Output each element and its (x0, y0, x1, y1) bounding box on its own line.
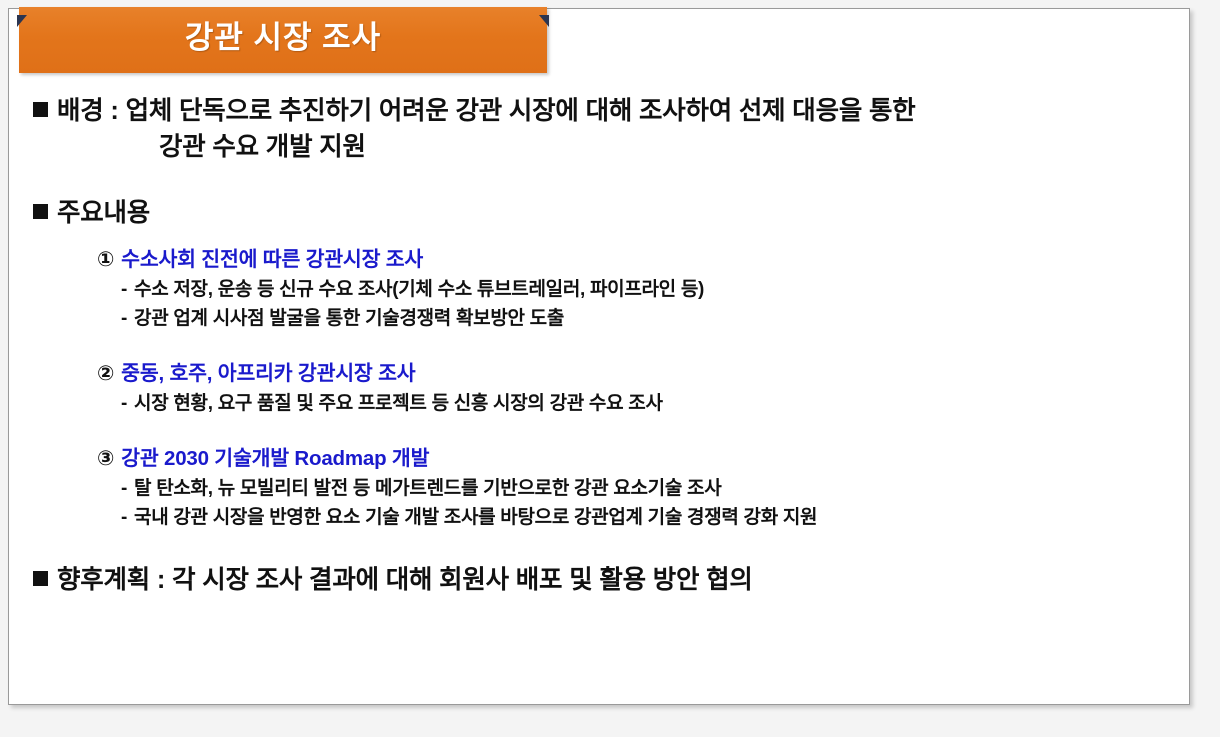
spacer (9, 165, 1191, 195)
slide-body: 배경 : 업체 단독으로 추진하기 어려운 강관 시장에 대해 조사하여 선제 … (9, 93, 1191, 598)
section-background: 배경 : 업체 단독으로 추진하기 어려운 강관 시장에 대해 조사하여 선제 … (9, 93, 1191, 165)
content-item-1-bullet-1: -수소 저장, 운송 등 신규 수요 조사(기체 수소 튜브트레일러, 파이프라… (9, 275, 1191, 304)
content-item-1-label: ①수소사회 진전에 따른 강관시장 조사 (9, 245, 1191, 275)
item-2-text: 중동, 호주, 아프리카 강관시장 조사 (121, 362, 415, 385)
section-main-content-heading-text: 주요내용 (57, 199, 150, 227)
spacer (9, 418, 1191, 444)
content-item-2: ②중동, 호주, 아프리카 강관시장 조사 -시장 현황, 요구 품질 및 주요… (9, 359, 1191, 418)
section-background-heading-text: 배경 : 업체 단독으로 추진하기 어려운 강관 시장에 대해 조사하여 선제 … (57, 97, 916, 125)
item-number-1: ① (97, 248, 114, 271)
content-item-1-bullet-2: -강관 업계 시사점 발굴을 통한 기술경쟁력 확보방안 도출 (9, 304, 1191, 333)
item-1-text: 수소사회 진전에 따른 강관시장 조사 (121, 248, 423, 271)
section-future-plan-heading: 향후계획 : 각 시장 조사 결과에 대해 회원사 배포 및 활용 방안 협의 (9, 562, 1191, 598)
section-main-content: 주요내용 ①수소사회 진전에 따른 강관시장 조사 -수소 저장, 운송 등 신… (9, 195, 1191, 532)
content-item-3-bullet-2: -국내 강관 시장을 반영한 요소 기술 개발 조사를 바탕으로 강관업계 기술… (9, 503, 1191, 532)
content-item-1-bullet-2-text: 강관 업계 시사점 발굴을 통한 기술경쟁력 확보방안 도출 (134, 308, 564, 329)
square-bullet-icon (33, 571, 48, 586)
dash-bullet-icon: - (121, 507, 127, 528)
dash-bullet-icon: - (121, 308, 127, 329)
square-bullet-icon (33, 102, 48, 117)
spacer (9, 231, 1191, 245)
content-item-1: ①수소사회 진전에 따른 강관시장 조사 -수소 저장, 운송 등 신규 수요 … (9, 245, 1191, 333)
content-item-3: ③강관 2030 기술개발 Roadmap 개발 -탈 탄소화, 뉴 모빌리티 … (9, 444, 1191, 532)
content-item-2-bullet-1-text: 시장 현황, 요구 품질 및 주요 프로젝트 등 신흥 시장의 강관 수요 조사 (134, 393, 663, 414)
section-future-plan: 향후계획 : 각 시장 조사 결과에 대해 회원사 배포 및 활용 방안 협의 (9, 562, 1191, 598)
content-item-1-bullet-1-text: 수소 저장, 운송 등 신규 수요 조사(기체 수소 튜브트레일러, 파이프라인… (134, 279, 704, 300)
spacer (9, 532, 1191, 562)
content-item-2-bullet-1: -시장 현황, 요구 품질 및 주요 프로젝트 등 신흥 시장의 강관 수요 조… (9, 389, 1191, 418)
section-background-continuation: 강관 수요 개발 지원 (9, 129, 1191, 165)
section-background-heading: 배경 : 업체 단독으로 추진하기 어려운 강관 시장에 대해 조사하여 선제 … (9, 93, 1191, 129)
item-number-3: ③ (97, 447, 114, 470)
content-item-3-bullet-2-text: 국내 강관 시장을 반영한 요소 기술 개발 조사를 바탕으로 강관업계 기술 … (134, 507, 817, 528)
dash-bullet-icon: - (121, 393, 127, 414)
dash-bullet-icon: - (121, 478, 127, 499)
item-3-text: 강관 2030 기술개발 Roadmap 개발 (121, 447, 429, 470)
content-item-2-label: ②중동, 호주, 아프리카 강관시장 조사 (9, 359, 1191, 389)
content-item-3-bullet-1-text: 탈 탄소화, 뉴 모빌리티 발전 등 메가트렌드를 기반으로한 강관 요소기술 … (134, 478, 721, 499)
section-future-plan-heading-text: 향후계획 : 각 시장 조사 결과에 대해 회원사 배포 및 활용 방안 협의 (57, 566, 753, 594)
square-bullet-icon (33, 204, 48, 219)
section-main-content-heading: 주요내용 (9, 195, 1191, 231)
dash-bullet-icon: - (121, 279, 127, 300)
spacer (9, 333, 1191, 359)
item-number-2: ② (97, 362, 114, 385)
content-item-3-label: ③강관 2030 기술개발 Roadmap 개발 (9, 444, 1191, 474)
content-item-3-bullet-1: -탈 탄소화, 뉴 모빌리티 발전 등 메가트렌드를 기반으로한 강관 요소기술… (9, 474, 1191, 503)
slide-title-banner: 강관 시장 조사 (19, 7, 547, 73)
slide-canvas: 강관 시장 조사 배경 : 업체 단독으로 추진하기 어려운 강관 시장에 대해… (8, 8, 1190, 705)
slide-title-text: 강관 시장 조사 (19, 7, 547, 73)
